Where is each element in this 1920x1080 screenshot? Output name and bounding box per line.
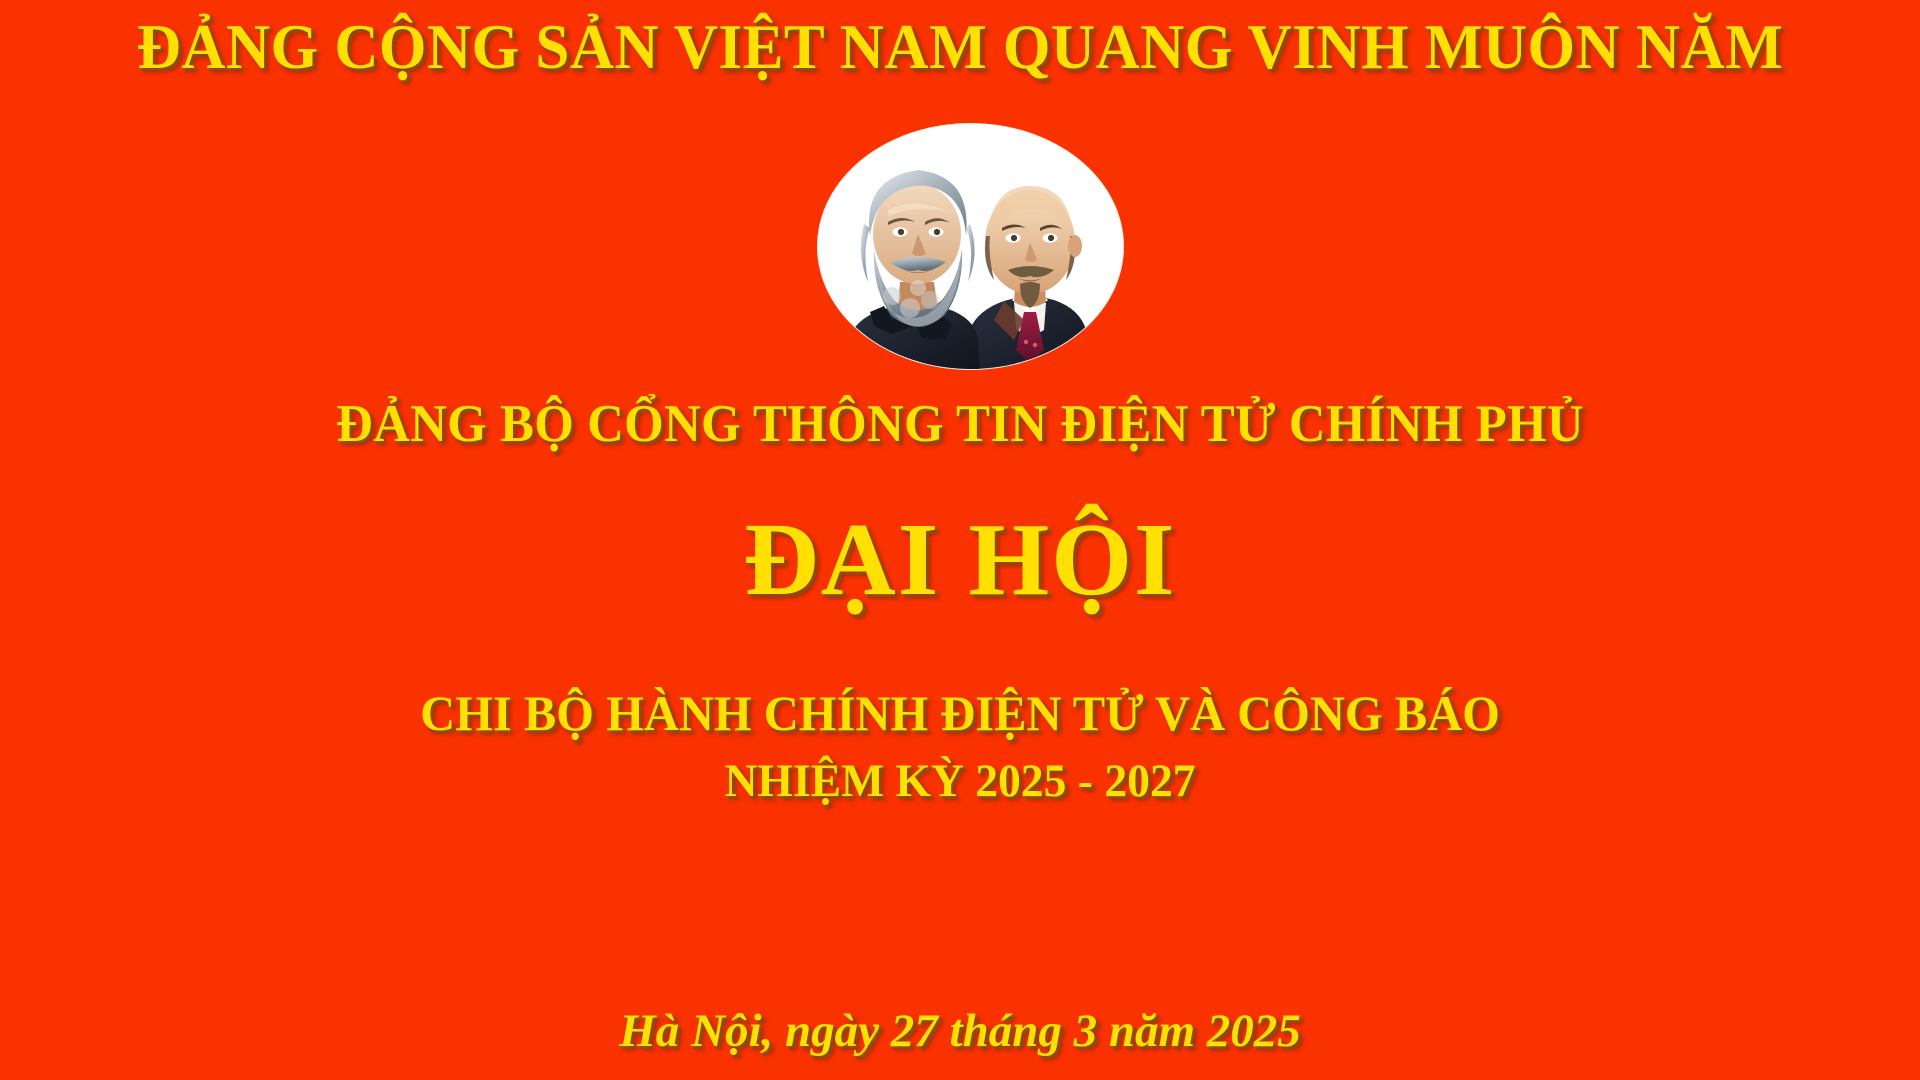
portrait-oval [818, 124, 1123, 369]
congress-banner: ĐẢNG CỘNG SẢN VIỆT NAM QUANG VINH MUÔN N… [0, 0, 1920, 1080]
date-line: Hà Nội, ngày 27 tháng 3 năm 2025 [0, 1004, 1920, 1058]
party-slogan: ĐẢNG CỘNG SẢN VIỆT NAM QUANG VINH MUÔN N… [29, 16, 1891, 79]
marx-lenin-illustration [818, 124, 1123, 369]
term-period: NHIỆM KỲ 2025 - 2027 [29, 758, 1891, 805]
subtitle-block: CHI BỘ HÀNH CHÍNH ĐIỆN TỬ VÀ CÔNG BÁO NH… [0, 688, 1920, 805]
marx-lenin-portrait [818, 124, 1123, 369]
page-title: ĐẠI HỘI [0, 500, 1920, 619]
organization-name: ĐẢNG BỘ CỔNG THÔNG TIN ĐIỆN TỬ CHÍNH PHỦ [38, 394, 1881, 454]
cell-name: CHI BỘ HÀNH CHÍNH ĐIỆN TỬ VÀ CÔNG BÁO [29, 688, 1891, 738]
